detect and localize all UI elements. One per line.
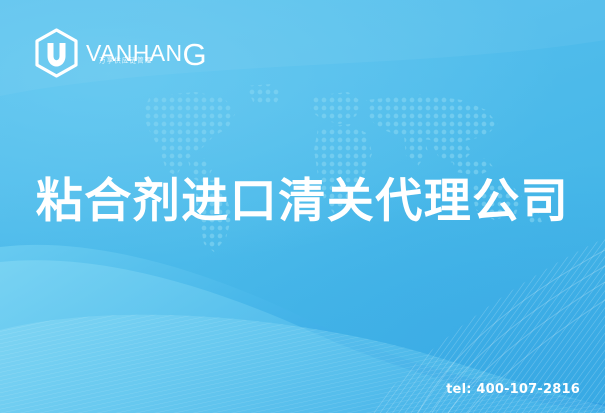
brand-logo[interactable]: VANHANG 万享供应链管理 (33, 27, 86, 79)
brand-subtitle: 万享供应链管理 (99, 58, 152, 65)
hexagon-u-mark-icon (33, 28, 80, 78)
contact-phone[interactable]: tel: 400-107-2816 (446, 382, 580, 397)
page-title: 粘合剂进口清关代理公司 (0, 176, 605, 228)
promo-banner: VANHANG 万享供应链管理 粘合剂进口清关代理公司 tel: 400-107… (0, 0, 605, 413)
brand-wordmark-tail: G (183, 37, 208, 72)
